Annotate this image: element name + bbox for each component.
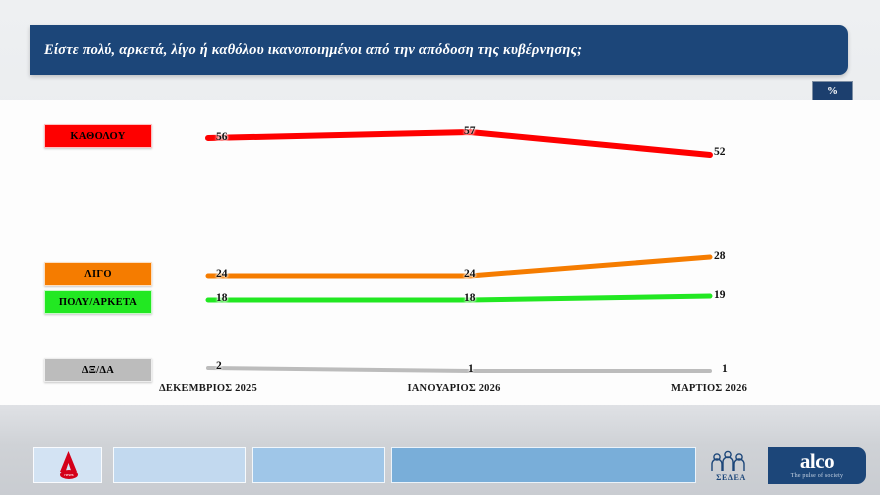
alco-wordmark: alco [800,452,834,472]
footer-swatch-2 [113,447,246,483]
series-line-kathol [208,132,710,155]
value-label-ligo-2: 28 [714,250,726,262]
value-label-kathol-0: 56 [216,131,228,143]
value-label-dk-1: 1 [468,363,474,375]
legend-label-kathol: ΚΑΘΟΛΟΥ [70,131,125,142]
series-line-poly [208,296,710,300]
value-label-kathol-1: 57 [464,125,476,137]
page-title: Είστε πολύ, αρκετά, λίγο ή καθόλου ικανο… [30,42,582,59]
value-label-poly-1: 18 [464,292,476,304]
value-label-ligo-1: 24 [464,268,476,280]
value-label-poly-0: 18 [216,292,228,304]
value-label-dk-2: 1 [722,363,728,375]
legend-chip-dk[interactable]: ΔΞ/ΔΑ [44,358,152,382]
legend-label-ligo: ΛΙΓΟ [84,269,112,280]
series-line-dk [208,368,710,371]
value-label-kathol-2: 52 [714,146,726,158]
sedea-label: ΣΕΔΕΑ [716,473,746,482]
legend-chip-ligo[interactable]: ΛΙΓΟ [44,262,152,286]
x-axis-label-2: ΜΑΡΤΙΟΣ 2026 [671,383,747,394]
alco-logo: alco The pulse of society [768,447,866,484]
value-label-poly-2: 19 [714,289,726,301]
svg-text:news: news [64,472,73,477]
x-axis-label-0: ΔΕΚΕΜΒΡΙΟΣ 2025 [159,383,257,394]
percent-unit-badge: % [812,81,853,101]
legend-label-poly: ΠΟΛΥ/ΑΡΚΕΤΑ [59,297,137,308]
sedea-logo: ΣΕΔΕΑ [700,447,762,484]
series-line-ligo [208,257,710,276]
value-label-dk-0: 2 [216,360,222,372]
value-label-ligo-0: 24 [216,268,228,280]
question-title-bar: Είστε πολύ, αρκετά, λίγο ή καθόλου ικανο… [30,25,848,75]
sedea-people-icon [708,450,754,472]
legend-chip-poly[interactable]: ΠΟΛΥ/ΑΡΚΕΤΑ [44,290,152,314]
x-axis-label-1: ΙΑΝΟΥΑΡΙΟΣ 2026 [407,383,500,394]
legend-label-dk: ΔΞ/ΔΑ [82,365,114,376]
alpha-news-logo-icon: news [55,450,83,480]
percent-symbol: % [827,85,838,97]
footer-swatch-3 [252,447,385,483]
footer-swatch-4 [391,447,696,483]
legend-chip-kathol[interactable]: ΚΑΘΟΛΟΥ [44,124,152,148]
alco-tagline: The pulse of society [791,473,844,479]
